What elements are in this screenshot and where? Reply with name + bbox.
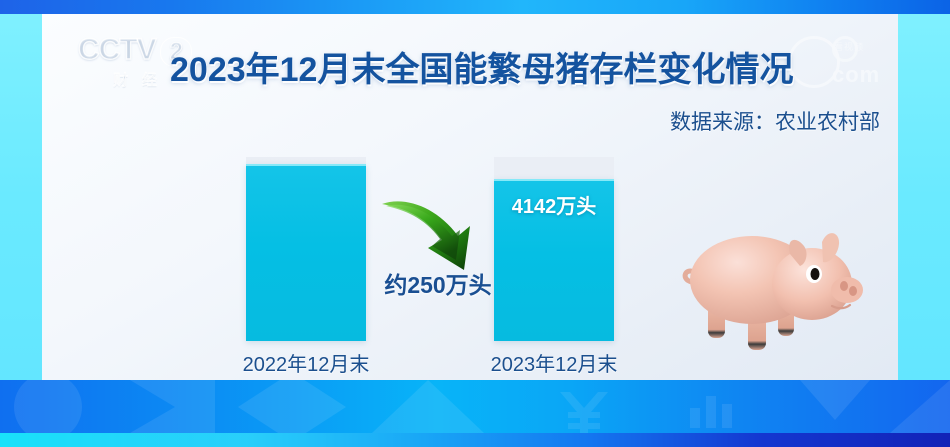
banner-pattern	[0, 380, 950, 433]
bar-group-2023: 4142万头 2023年12月末	[494, 14, 614, 380]
pig-illustration-icon	[682, 212, 882, 357]
content-panel: CCTV2 财经 看视频 com 2023年12月末全国能繁母猪存栏变化情况 数…	[42, 14, 898, 380]
bar-group-2022: 2022年12月末	[246, 14, 366, 380]
left-side-band	[0, 14, 42, 380]
right-side-band	[898, 14, 950, 380]
broadcast-screen: CCTV2 财经 看视频 com 2023年12月末全国能繁母猪存栏变化情况 数…	[0, 0, 950, 447]
bar-fill-2022	[246, 164, 366, 341]
delta-annotation-label: 约250万头	[348, 266, 528, 300]
top-accent-strip	[0, 0, 950, 14]
bar-category-label-2022: 2022年12月末	[206, 348, 406, 377]
bar-category-label-2023: 2023年12月末	[454, 348, 654, 377]
bar-value-label-2023: 4142万头	[494, 190, 614, 219]
bar-chart: 2022年12月末 4142万头 2023年12月末	[42, 14, 898, 380]
banner-lower-strip	[0, 433, 950, 447]
bottom-banner	[0, 380, 950, 447]
